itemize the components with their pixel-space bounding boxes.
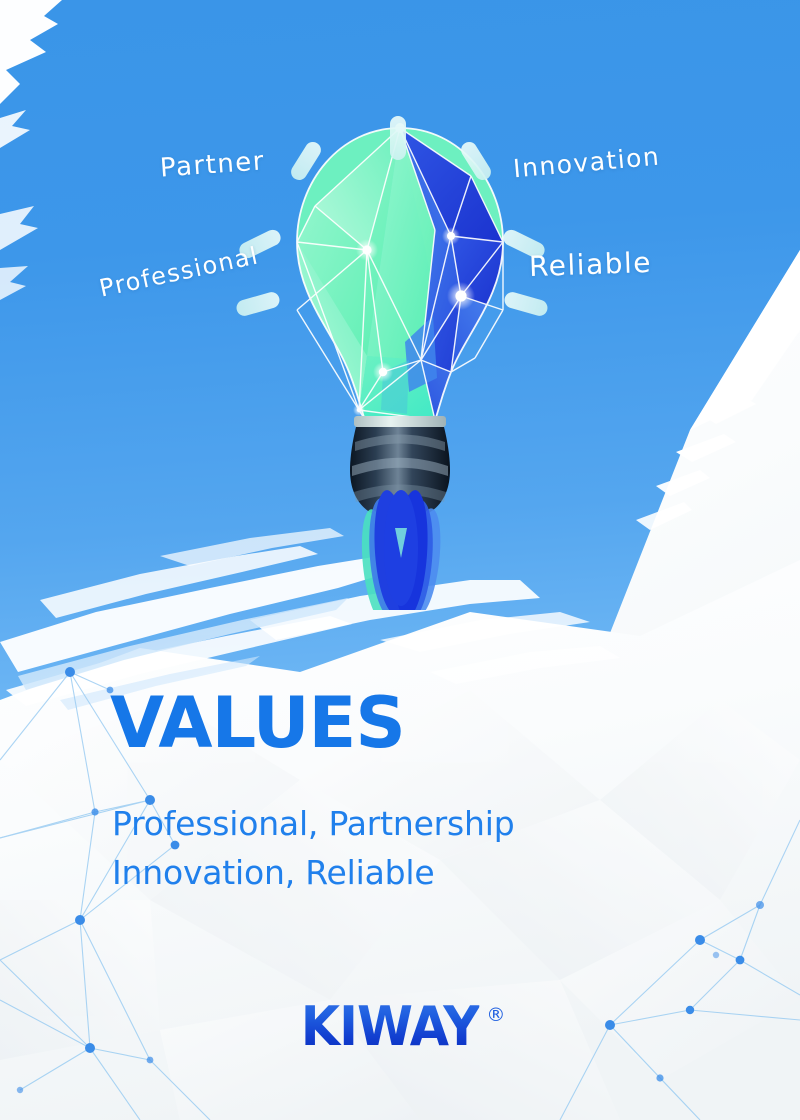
bulb-collar	[354, 416, 446, 427]
values-subtitle-line-1: Professional, Partnership	[112, 800, 514, 849]
brand-logo-wordmark: KIWAY	[300, 1000, 478, 1054]
lightbulb-illustration	[255, 110, 545, 610]
keyword-reliable: Reliable	[528, 246, 652, 283]
snow-shard-top-left	[0, 0, 62, 300]
brand-logo: KIWAY ®	[0, 1000, 800, 1054]
poster-canvas: Partner Professional Innovation Reliable…	[0, 0, 800, 1120]
ray-top-center	[390, 116, 406, 160]
page-title: VALUES	[110, 688, 405, 758]
values-subtitle: Professional, Partnership Innovation, Re…	[112, 800, 514, 898]
registered-trademark-icon: ®	[486, 1004, 505, 1026]
values-subtitle-line-2: Innovation, Reliable	[112, 849, 514, 898]
